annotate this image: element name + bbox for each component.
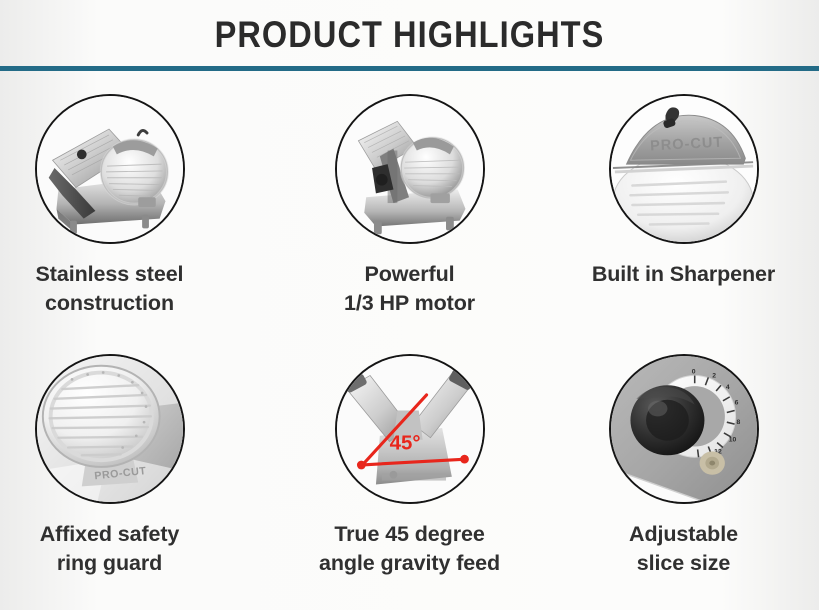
highlight-card-built-in-sharpener: PRO-CUT Built in Sharpener [547, 94, 819, 289]
highlight-caption: Powerful 1/3 HP motor [275, 260, 545, 318]
highlight-image-slicer-carriage-angle-diagram: 45° [335, 354, 485, 504]
highlight-card-stainless-steel-construction: Stainless steel construction [0, 94, 246, 318]
svg-text:2: 2 [712, 372, 716, 379]
caption-line: Powerful [275, 260, 545, 289]
product-highlights-page: PRODUCT HIGHLIGHTS [0, 0, 819, 610]
caption-line: Affixed safety [0, 520, 245, 549]
caption-line: ring guard [0, 549, 245, 578]
page-header: PRODUCT HIGHLIGHTS [0, 0, 819, 72]
highlight-caption: Affixed safety ring guard [0, 520, 245, 578]
highlight-caption: Stainless steel construction [0, 260, 245, 318]
slicer-side-view-art [337, 96, 483, 242]
caption-line: Adjustable [549, 520, 819, 549]
adjust-knob-art: 0 2 4 6 8 10 12 [611, 356, 757, 502]
svg-text:0: 0 [691, 369, 695, 376]
caption-line: angle gravity feed [275, 549, 545, 578]
highlight-card-adjustable-slice-size: 0 2 4 6 8 10 12 [547, 354, 819, 578]
highlight-card-powerful-motor: Powerful 1/3 HP motor [273, 94, 546, 318]
page-title: PRODUCT HIGHLIGHTS [49, 0, 770, 64]
sharpener-art: PRO-CUT [611, 96, 757, 242]
highlight-image-meat-slicer-side-view [335, 94, 485, 244]
slicer-full-view-art [37, 96, 183, 242]
title-divider [0, 66, 819, 71]
highlight-card-affixed-safety-ring-guard: PRO-CUT Affixed safety ring guard [0, 354, 246, 578]
caption-line: construction [0, 289, 245, 318]
angle-label: 45° [389, 431, 420, 454]
gravity-feed-angle-art: 45° [337, 356, 483, 502]
highlight-caption: Adjustable slice size [549, 520, 819, 578]
svg-text:4: 4 [725, 384, 729, 391]
caption-line: Stainless steel [0, 260, 245, 289]
caption-line: 1/3 HP motor [275, 289, 545, 318]
highlight-caption: Built in Sharpener [549, 260, 819, 289]
caption-line: slice size [549, 549, 819, 578]
highlights-grid: Stainless steel construction [0, 72, 819, 610]
caption-line: Built in Sharpener [549, 260, 819, 289]
caption-line: True 45 degree [275, 520, 545, 549]
svg-text:6: 6 [734, 400, 738, 407]
highlight-image-thickness-adjustment-knob-closeup: 0 2 4 6 8 10 12 [609, 354, 759, 504]
highlight-caption: True 45 degree angle gravity feed [275, 520, 545, 578]
svg-text:10: 10 [728, 437, 736, 444]
highlight-image-meat-slicer-full-view [35, 94, 185, 244]
highlight-card-gravity-feed-angle: 45° True 45 degree angle gravity feed [273, 354, 546, 578]
svg-text:8: 8 [736, 419, 740, 426]
highlight-image-blade-ring-guard-closeup: PRO-CUT [35, 354, 185, 504]
ring-guard-art: PRO-CUT [37, 356, 183, 502]
highlight-image-sharpener-assembly-closeup: PRO-CUT [609, 94, 759, 244]
